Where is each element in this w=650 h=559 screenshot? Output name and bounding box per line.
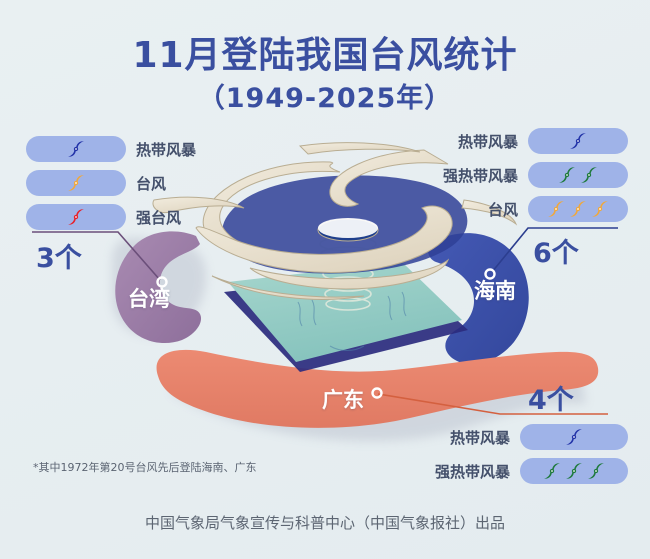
legend-icon-pill bbox=[528, 128, 628, 154]
typhoon-icon bbox=[590, 199, 610, 219]
legend-category-label: 热带风暴 bbox=[136, 139, 196, 160]
typhoon-icon bbox=[579, 165, 599, 185]
legend-row: 强台风 bbox=[26, 204, 196, 230]
legend-category-label: 强台风 bbox=[136, 207, 181, 228]
legend-category-label: 热带风暴 bbox=[450, 427, 510, 448]
credit-line: 中国气象局气象宣传与科普中心（中国气象报社）出品 bbox=[0, 512, 650, 533]
legend-icon-pill bbox=[528, 196, 628, 222]
count-taiwan: 3个 bbox=[36, 236, 82, 275]
region-label-guangdong: 广东 bbox=[322, 384, 364, 414]
legend-category-label: 热带风暴 bbox=[458, 131, 518, 152]
legend-icon-pill bbox=[520, 424, 628, 450]
typhoon-icon bbox=[542, 461, 562, 481]
count-guangdong: 4个 bbox=[528, 378, 574, 417]
legend-hainan: 热带风暴强热带风暴台风 bbox=[443, 128, 628, 222]
legend-category-label: 台风 bbox=[488, 199, 518, 220]
typhoon-icon bbox=[557, 165, 577, 185]
typhoon-icon bbox=[66, 207, 86, 227]
legend-row: 热带风暴 bbox=[450, 424, 628, 450]
typhoon-icon bbox=[66, 139, 86, 159]
typhoon-icon bbox=[568, 131, 588, 151]
typhoon-icon bbox=[564, 461, 584, 481]
legend-icon-pill bbox=[26, 204, 126, 230]
typhoon-icon bbox=[586, 461, 606, 481]
infographic-root: 11月登陆我国台风统计 （1949-2025年） 热带风暴台风强台风 热带风暴强… bbox=[0, 0, 650, 559]
page-title: 11月登陆我国台风统计 bbox=[0, 26, 650, 78]
legend-icon-pill bbox=[520, 458, 628, 484]
legend-taiwan: 热带风暴台风强台风 bbox=[26, 136, 196, 230]
legend-row: 热带风暴 bbox=[26, 136, 196, 162]
legend-category-label: 强热带风暴 bbox=[443, 165, 518, 186]
legend-row: 热带风暴 bbox=[458, 128, 628, 154]
legend-row: 台风 bbox=[488, 196, 628, 222]
legend-row: 强热带风暴 bbox=[435, 458, 628, 484]
legend-icon-pill bbox=[528, 162, 628, 188]
typhoon-icon bbox=[546, 199, 566, 219]
typhoon-icon bbox=[564, 427, 584, 447]
count-hainan: 6个 bbox=[533, 231, 579, 270]
legend-icon-pill bbox=[26, 170, 126, 196]
legend-row: 台风 bbox=[26, 170, 196, 196]
region-label-taiwan: 台湾 bbox=[128, 283, 170, 313]
typhoon-icon bbox=[66, 173, 86, 193]
legend-category-label: 台风 bbox=[136, 173, 166, 194]
legend-icon-pill bbox=[26, 136, 126, 162]
legend-guangdong: 热带风暴强热带风暴 bbox=[435, 424, 628, 484]
legend-category-label: 强热带风暴 bbox=[435, 461, 510, 482]
region-label-hainan: 海南 bbox=[474, 275, 516, 305]
page-subtitle: （1949-2025年） bbox=[0, 76, 650, 115]
footnote: *其中1972年第20号台风先后登陆海南、广东 bbox=[33, 459, 257, 475]
legend-row: 强热带风暴 bbox=[443, 162, 628, 188]
typhoon-icon bbox=[568, 199, 588, 219]
